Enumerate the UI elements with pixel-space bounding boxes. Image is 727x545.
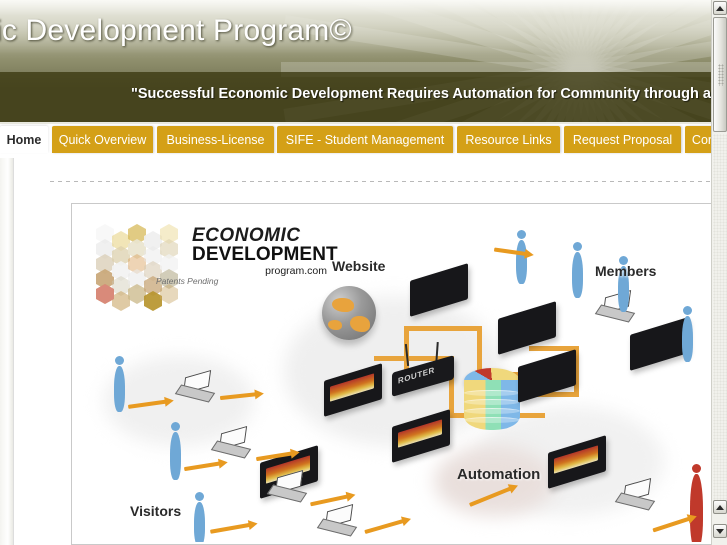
display-screen xyxy=(630,326,688,362)
logo-hex-tile xyxy=(112,291,130,311)
display-screen-flame xyxy=(548,444,606,480)
cylinder-ring xyxy=(464,417,520,423)
tab-quick-overview[interactable]: Quick Overview xyxy=(52,126,153,153)
circuit-pipe xyxy=(404,326,482,331)
logo-line-development: DEVELOPMENT xyxy=(192,245,327,265)
tab-resource-links[interactable]: Resource Links xyxy=(457,126,560,153)
person-figure-highlight xyxy=(690,474,703,542)
vertical-scrollbar-thumb[interactable] xyxy=(713,17,727,132)
caret-up-icon xyxy=(716,6,724,11)
page-content: ECONOMIC DEVELOPMENT program.com Patents… xyxy=(0,158,711,545)
main-navigation: Home Quick Overview Business-License SIF… xyxy=(0,126,711,158)
display-screen-flame xyxy=(324,372,382,408)
site-banner: nomic Development Program© "Successful E… xyxy=(0,0,711,124)
logo-wordmark: ECONOMIC DEVELOPMENT program.com xyxy=(192,226,327,277)
person-figure xyxy=(516,240,527,284)
diagram-label-automation: Automation xyxy=(457,466,540,483)
router-device: ROUTER xyxy=(392,358,454,388)
site-title: nomic Development Program© xyxy=(0,14,352,48)
laptop-device xyxy=(270,474,304,500)
vertical-scrollbar[interactable] xyxy=(711,0,727,545)
circuit-pipe xyxy=(477,326,482,372)
laptop-device xyxy=(320,508,354,534)
person-figure xyxy=(682,316,693,362)
cylinder-ring xyxy=(464,390,520,396)
person-figure xyxy=(194,502,205,542)
flow-arrow xyxy=(210,522,254,534)
scrollbar-grip xyxy=(718,64,724,86)
logo-hex-tile xyxy=(128,284,146,304)
logo-hex-tile xyxy=(144,291,162,311)
tab-home[interactable]: Home xyxy=(0,126,48,153)
banner-divider xyxy=(0,122,711,124)
hero-diagram-image: ECONOMIC DEVELOPMENT program.com Patents… xyxy=(74,206,709,542)
caret-down-icon xyxy=(716,529,724,534)
laptop-device xyxy=(178,374,212,400)
tab-sife-student-management[interactable]: SIFE - Student Management xyxy=(277,126,453,153)
diagram-label-members: Members xyxy=(595,263,656,279)
logo-hex-tile-accent xyxy=(96,284,114,304)
hero-diagram-frame: ECONOMIC DEVELOPMENT program.com Patents… xyxy=(71,203,711,545)
flow-arrow xyxy=(310,494,352,507)
flow-arrow xyxy=(494,248,530,257)
browser-page: nomic Development Program© "Successful E… xyxy=(0,0,727,545)
cylinder-ring xyxy=(464,399,520,405)
site-tagline: "Successful Economic Development Require… xyxy=(131,86,711,102)
flow-arrow xyxy=(364,518,407,534)
display-screen xyxy=(410,272,468,308)
left-rail-decoration xyxy=(0,158,14,545)
database-pie-chart xyxy=(464,368,520,430)
scroll-down-button[interactable] xyxy=(713,524,727,538)
content-dashed-divider xyxy=(50,181,711,182)
scroll-up-button[interactable] xyxy=(713,1,727,15)
tagline-bar: "Successful Economic Development Require… xyxy=(0,72,711,122)
globe-landmass xyxy=(328,320,342,330)
laptop-device xyxy=(214,430,248,456)
display-screen xyxy=(518,358,576,394)
person-figure xyxy=(572,252,583,298)
person-figure xyxy=(114,366,125,412)
laptop-device xyxy=(618,482,652,508)
tab-business-license[interactable]: Business-License xyxy=(157,126,274,153)
flow-arrow xyxy=(652,516,693,533)
scroll-up-button-inner[interactable] xyxy=(713,500,727,514)
display-screen-flame xyxy=(392,418,450,454)
tab-request-proposal[interactable]: Request Proposal xyxy=(564,126,681,153)
globe-landmass xyxy=(350,316,370,332)
diagram-label-website: Website xyxy=(332,258,385,274)
globe-icon xyxy=(322,286,376,340)
logo-hex-tile xyxy=(160,284,178,304)
logo-line-economic: ECONOMIC xyxy=(192,226,327,245)
display-screen xyxy=(498,310,556,346)
vertical-scrollbar-track[interactable] xyxy=(713,134,727,511)
diagram-label-visitors: Visitors xyxy=(130,503,181,519)
logo-hex-mosaic xyxy=(96,224,188,300)
logo-patents-pending: Patents Pending xyxy=(156,276,218,286)
person-figure xyxy=(170,432,181,480)
globe-landmass xyxy=(332,298,354,312)
flow-arrow xyxy=(184,461,224,471)
caret-up-icon xyxy=(716,505,724,510)
edp-logo: ECONOMIC DEVELOPMENT program.com Patents… xyxy=(96,224,326,300)
cylinder-ring xyxy=(464,408,520,414)
